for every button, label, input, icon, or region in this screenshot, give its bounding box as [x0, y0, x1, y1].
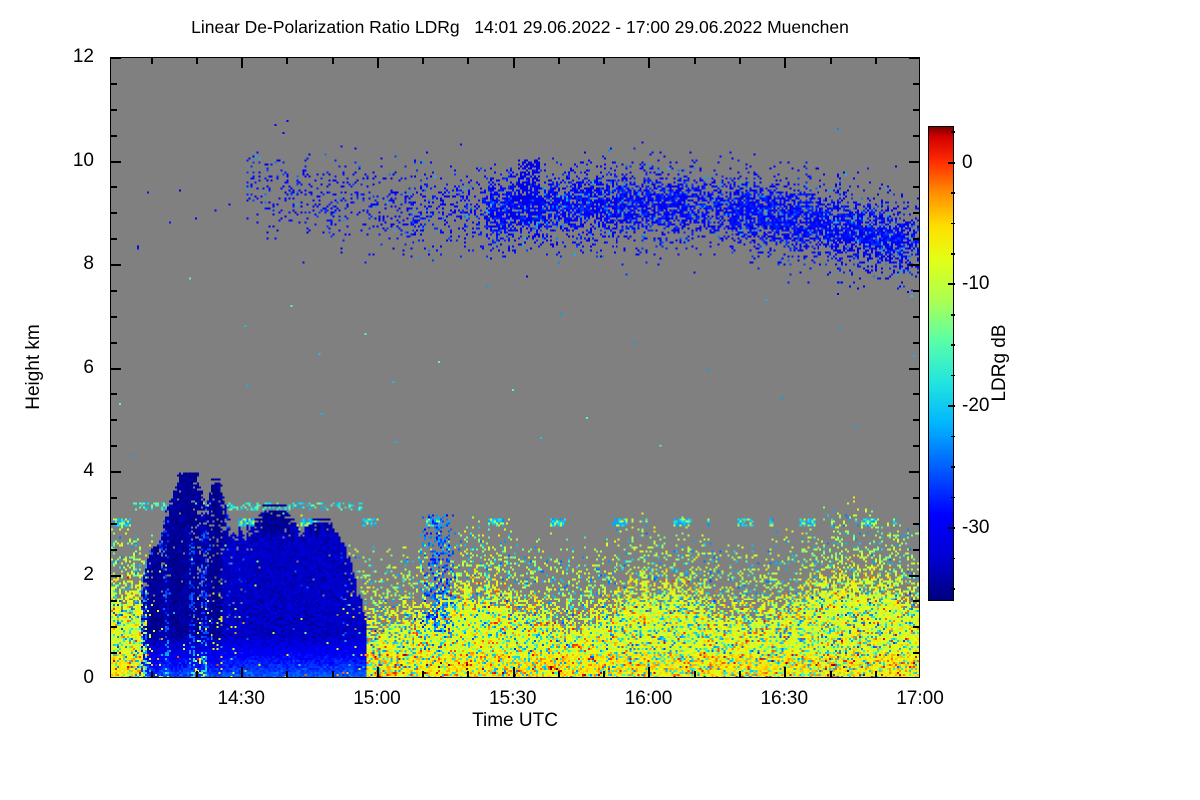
- y-minor-tick: [111, 523, 117, 525]
- y-minor-tick: [111, 186, 117, 188]
- colorbar-minor-tick: [951, 253, 955, 255]
- colorbar-tick-label: -30: [962, 517, 989, 539]
- y-minor-tick: [913, 549, 919, 551]
- colorbar-tick-label: -10: [962, 273, 989, 295]
- x-minor-tick: [739, 58, 741, 64]
- y-minor-tick: [913, 212, 919, 214]
- y-minor-tick: [111, 600, 117, 602]
- ldr-time-height-figure: Linear De-Polarization Ratio LDRg 14:01 …: [0, 0, 1200, 800]
- y-minor-tick: [111, 212, 117, 214]
- y-major-tick: [111, 471, 121, 473]
- x-major-tick: [377, 58, 379, 68]
- x-minor-tick: [558, 58, 560, 64]
- y-minor-tick: [111, 549, 117, 551]
- x-major-tick: [241, 58, 243, 68]
- y-major-tick: [111, 57, 121, 59]
- y-minor-tick: [913, 652, 919, 654]
- y-minor-tick: [913, 523, 919, 525]
- y-minor-tick: [913, 290, 919, 292]
- y-axis-title: Height km: [23, 324, 45, 410]
- x-minor-tick: [694, 58, 696, 64]
- y-major-tick: [909, 57, 919, 59]
- y-tick-label: 4: [83, 460, 94, 482]
- x-major-tick: [241, 667, 243, 677]
- x-minor-tick: [603, 671, 605, 677]
- x-minor-tick: [875, 58, 877, 64]
- x-minor-tick: [467, 58, 469, 64]
- y-minor-tick: [111, 83, 117, 85]
- x-minor-tick: [875, 671, 877, 677]
- colorbar-tick-label: -20: [962, 395, 989, 417]
- x-minor-tick: [286, 58, 288, 64]
- y-tick-label: 10: [73, 150, 94, 172]
- y-tick-label: 0: [83, 667, 94, 689]
- y-minor-tick: [913, 135, 919, 137]
- colorbar-major-tick: [948, 405, 955, 407]
- colorbar-major-tick: [948, 162, 955, 164]
- colorbar-minor-tick: [951, 192, 955, 194]
- y-major-tick: [111, 368, 121, 370]
- y-tick-label: 6: [83, 357, 94, 379]
- y-minor-tick: [913, 626, 919, 628]
- colorbar-minor-tick: [951, 558, 955, 560]
- y-minor-tick: [111, 290, 117, 292]
- plot-area[interactable]: [110, 57, 920, 678]
- x-major-tick: [513, 58, 515, 68]
- x-axis-title: Time UTC: [110, 710, 920, 732]
- y-minor-tick: [111, 652, 117, 654]
- y-minor-tick: [111, 497, 117, 499]
- x-minor-tick: [603, 58, 605, 64]
- x-minor-tick: [830, 671, 832, 677]
- colorbar-major-tick: [948, 283, 955, 285]
- colorbar-major-tick: [948, 527, 955, 529]
- y-major-tick: [111, 161, 121, 163]
- y-minor-tick: [913, 186, 919, 188]
- x-minor-tick: [739, 671, 741, 677]
- y-tick-label: 8: [83, 253, 94, 275]
- y-tick-label: 2: [83, 564, 94, 586]
- y-major-tick: [909, 575, 919, 577]
- y-tick-label: 12: [73, 46, 94, 68]
- x-minor-tick: [151, 671, 153, 677]
- y-minor-tick: [111, 342, 117, 344]
- x-tick-label: 15:30: [489, 688, 537, 710]
- y-minor-tick: [111, 393, 117, 395]
- x-minor-tick: [467, 671, 469, 677]
- y-minor-tick: [111, 626, 117, 628]
- x-tick-label: 17:00: [896, 688, 944, 710]
- y-major-tick: [909, 264, 919, 266]
- x-minor-tick: [286, 671, 288, 677]
- x-major-tick: [377, 667, 379, 677]
- y-minor-tick: [913, 600, 919, 602]
- x-minor-tick: [558, 671, 560, 677]
- x-major-tick: [648, 58, 650, 68]
- x-major-tick: [784, 58, 786, 68]
- y-minor-tick: [111, 419, 117, 421]
- x-minor-tick: [694, 671, 696, 677]
- colorbar-minor-tick: [951, 497, 955, 499]
- colorbar-minor-tick: [951, 223, 955, 225]
- x-major-tick: [648, 667, 650, 677]
- x-minor-tick: [332, 671, 334, 677]
- y-axis-tick-labels: 024681012: [0, 57, 110, 678]
- y-minor-tick: [111, 135, 117, 137]
- y-minor-tick: [111, 445, 117, 447]
- y-minor-tick: [913, 316, 919, 318]
- colorbar-gradient: [928, 126, 954, 601]
- y-major-tick: [909, 471, 919, 473]
- y-minor-tick: [111, 238, 117, 240]
- y-minor-tick: [913, 497, 919, 499]
- y-minor-tick: [913, 419, 919, 421]
- y-major-tick: [111, 264, 121, 266]
- y-minor-tick: [913, 109, 919, 111]
- x-tick-label: 16:30: [760, 688, 808, 710]
- colorbar-minor-tick: [951, 344, 955, 346]
- colorbar-minor-tick: [951, 588, 955, 590]
- x-minor-tick: [422, 671, 424, 677]
- y-major-tick: [909, 368, 919, 370]
- heatmap-canvas[interactable]: [111, 58, 919, 677]
- colorbar-minor-tick: [951, 466, 955, 468]
- x-major-tick: [513, 667, 515, 677]
- y-minor-tick: [913, 83, 919, 85]
- colorbar-title: LDRg dB: [989, 324, 1011, 401]
- y-minor-tick: [913, 238, 919, 240]
- y-minor-tick: [913, 445, 919, 447]
- x-minor-tick: [151, 58, 153, 64]
- colorbar[interactable]: 0-10-20-30: [928, 126, 954, 601]
- x-tick-label: 14:30: [217, 688, 265, 710]
- x-minor-tick: [422, 58, 424, 64]
- x-minor-tick: [196, 671, 198, 677]
- page-title: Linear De-Polarization Ratio LDRg 14:01 …: [0, 17, 1040, 38]
- x-minor-tick: [196, 58, 198, 64]
- colorbar-tick-label: 0: [962, 152, 973, 174]
- colorbar-minor-tick: [951, 314, 955, 316]
- x-tick-label: 16:00: [625, 688, 673, 710]
- x-minor-tick: [830, 58, 832, 64]
- x-tick-label: 15:00: [353, 688, 401, 710]
- y-major-tick: [909, 161, 919, 163]
- colorbar-minor-tick: [951, 375, 955, 377]
- y-minor-tick: [111, 316, 117, 318]
- y-minor-tick: [913, 342, 919, 344]
- y-major-tick: [111, 575, 121, 577]
- y-minor-tick: [111, 109, 117, 111]
- x-major-tick: [784, 667, 786, 677]
- colorbar-minor-tick: [951, 131, 955, 133]
- colorbar-minor-tick: [951, 436, 955, 438]
- y-minor-tick: [913, 393, 919, 395]
- x-minor-tick: [332, 58, 334, 64]
